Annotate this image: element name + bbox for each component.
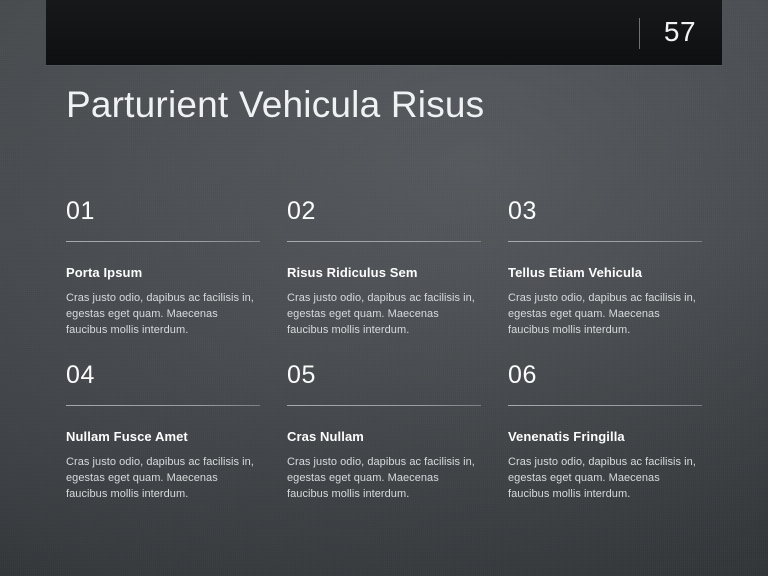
item-number: 06 — [508, 360, 702, 391]
list-item: 04 Nullam Fusce Amet Cras justo odio, da… — [66, 360, 260, 502]
item-divider-rule — [508, 241, 702, 242]
item-heading: Venenatis Fringilla — [508, 428, 702, 445]
item-body-text: Cras justo odio, dapibus ac facilisis in… — [66, 290, 260, 338]
item-number: 05 — [287, 360, 481, 391]
list-item: 03 Tellus Etiam Vehicula Cras justo odio… — [508, 196, 702, 338]
item-heading: Risus Ridiculus Sem — [287, 264, 481, 281]
item-divider-rule — [287, 241, 481, 242]
slide-header-bar: 57 — [46, 0, 722, 65]
list-item: 02 Risus Ridiculus Sem Cras justo odio, … — [287, 196, 481, 338]
item-number: 03 — [508, 196, 702, 227]
item-number: 01 — [66, 196, 260, 227]
item-divider-rule — [508, 405, 702, 406]
item-heading: Cras Nullam — [287, 428, 481, 445]
item-heading: Porta Ipsum — [66, 264, 260, 281]
header-divider — [639, 18, 640, 49]
item-heading: Tellus Etiam Vehicula — [508, 264, 702, 281]
item-body-text: Cras justo odio, dapibus ac facilisis in… — [508, 290, 702, 338]
item-body-text: Cras justo odio, dapibus ac facilisis in… — [287, 290, 481, 338]
item-body-text: Cras justo odio, dapibus ac facilisis in… — [508, 454, 702, 502]
item-heading: Nullam Fusce Amet — [66, 428, 260, 445]
item-divider-rule — [287, 405, 481, 406]
list-item: 01 Porta Ipsum Cras justo odio, dapibus … — [66, 196, 260, 338]
item-divider-rule — [66, 405, 260, 406]
slide-canvas: 57 Parturient Vehicula Risus 01 Porta Ip… — [0, 0, 768, 576]
item-body-text: Cras justo odio, dapibus ac facilisis in… — [66, 454, 260, 502]
list-item: 05 Cras Nullam Cras justo odio, dapibus … — [287, 360, 481, 502]
item-body-text: Cras justo odio, dapibus ac facilisis in… — [287, 454, 481, 502]
page-title: Parturient Vehicula Risus — [66, 84, 484, 126]
list-item: 06 Venenatis Fringilla Cras justo odio, … — [508, 360, 702, 502]
items-grid: 01 Porta Ipsum Cras justo odio, dapibus … — [66, 196, 702, 502]
slide-number: 57 — [655, 13, 705, 51]
item-number: 02 — [287, 196, 481, 227]
item-number: 04 — [66, 360, 260, 391]
item-divider-rule — [66, 241, 260, 242]
